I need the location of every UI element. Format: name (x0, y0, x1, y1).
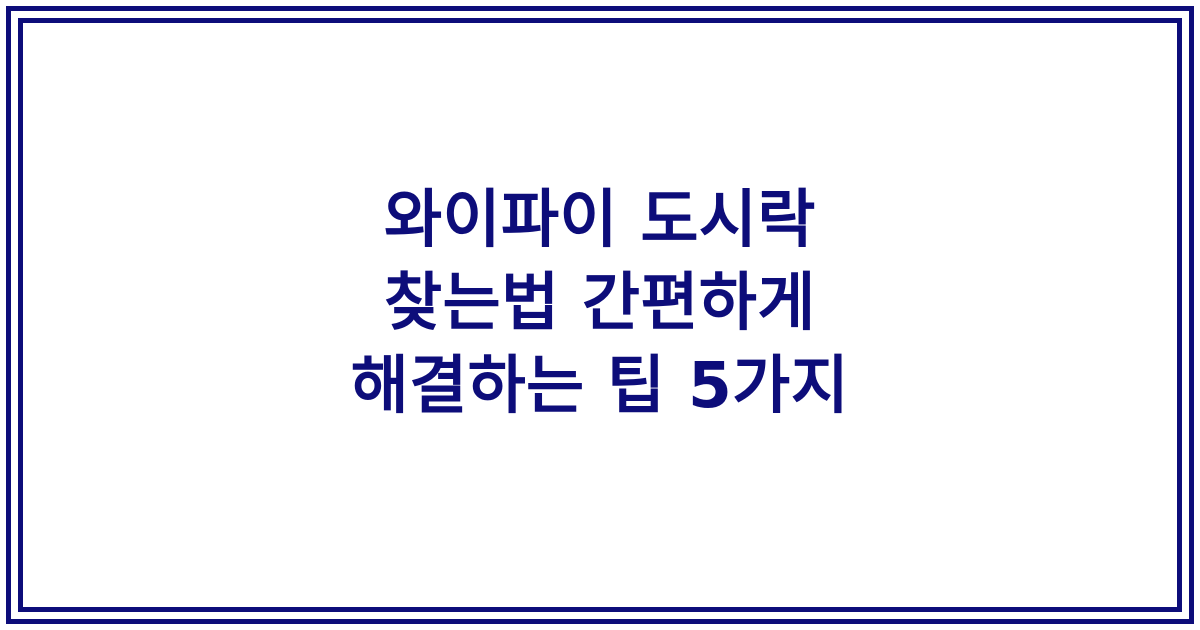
page-title: 와이파이 도시락 찾는법 간편하게 해결하는 팁 5가지 (0, 178, 1200, 427)
title-line-3: 해결하는 팁 5가지 (351, 344, 849, 427)
title-line-2: 찾는법 간편하게 (384, 261, 816, 344)
thumbnail-canvas: 와이파이 도시락 찾는법 간편하게 해결하는 팁 5가지 (0, 0, 1200, 630)
title-line-1: 와이파이 도시락 (384, 178, 816, 261)
